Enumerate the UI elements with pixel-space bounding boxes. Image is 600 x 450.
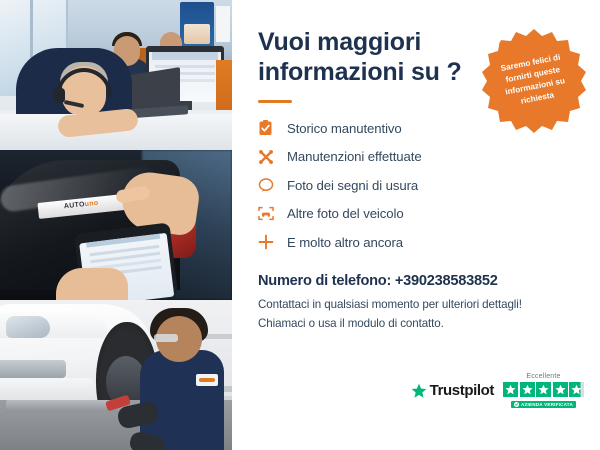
feature-item-manutenzioni[interactable]: Manutenzioni effettuate — [258, 144, 578, 170]
feature-item-altro[interactable]: E molto altro ancora — [258, 229, 578, 255]
hand-lower-decor — [56, 268, 128, 300]
star-4 — [553, 382, 568, 397]
badge-text: Saremo felici di fornirti queste informa… — [488, 50, 580, 113]
car-frame-icon — [258, 206, 280, 221]
trustpilot-star-icon — [411, 383, 427, 399]
clipboard-check-icon — [258, 120, 280, 136]
phone-number[interactable]: +390238583852 — [395, 273, 498, 289]
availability-badge: Saremo felici di fornirti queste informa… — [482, 29, 586, 133]
feature-label: Storico manutentivo — [287, 121, 402, 136]
trustpilot-rating: Eccellente AZIENDA VERIFICATA — [503, 373, 584, 408]
feature-label: E molto altro ancora — [287, 235, 403, 250]
feature-label: Foto dei segni di usura — [287, 178, 418, 193]
feature-label: Manutenzioni effettuate — [287, 149, 422, 164]
page-title: Vuoi maggiori informazioni su ? — [258, 28, 468, 87]
star-2 — [520, 382, 535, 397]
sticker-suffix: uno — [84, 200, 98, 208]
wall-paper-decor — [216, 6, 230, 42]
rating-label: Eccellente — [526, 373, 560, 380]
check-circle-icon — [514, 402, 519, 407]
feature-item-foto-usura[interactable]: Foto dei segni di usura — [258, 172, 578, 198]
plus-icon — [258, 234, 280, 250]
star-rating — [503, 382, 584, 397]
feature-label: Altre foto del veicolo — [287, 206, 404, 221]
verified-text: AZIENDA VERIFICATA — [521, 402, 573, 407]
headlight-decor — [6, 316, 50, 338]
star-5 — [569, 382, 584, 397]
mechanic-decor — [140, 350, 224, 450]
sticker-prefix: AUTO — [64, 201, 86, 210]
mechanic-wheel-photo — [0, 300, 232, 450]
promo-banner: AUTOuno — [0, 0, 600, 450]
photo-column: AUTOuno — [0, 0, 232, 450]
call-center-agents-photo — [0, 0, 232, 150]
trustpilot-widget[interactable]: Trustpilot Eccellente AZIENDA VERIFICA — [411, 373, 584, 408]
feature-item-altre-foto[interactable]: Altre foto del veicolo — [258, 201, 578, 227]
phone-label: Numero di telefono: — [258, 273, 391, 289]
headset-icon — [482, 27, 502, 43]
phone-line[interactable]: Numero di telefono: +390238583852 — [258, 273, 578, 289]
contact-line-2: Chiamaci o usa il modulo di contatto. — [258, 315, 578, 334]
trustpilot-logo: Trustpilot — [411, 382, 494, 399]
star-3 — [536, 382, 551, 397]
car-sticker-tablet-photo: AUTOuno — [0, 150, 232, 300]
star-1 — [503, 382, 518, 397]
crossed-tools-icon — [258, 149, 280, 165]
speech-bubble-icon — [258, 178, 280, 193]
title-divider — [258, 100, 292, 103]
headline-line-1: Vuoi maggiori — [258, 28, 421, 56]
phone-block: Numero di telefono: +390238583852 Contat… — [258, 273, 578, 334]
trustpilot-wordmark: Trustpilot — [430, 382, 494, 399]
contact-line-1: Contattaci in qualsiasi momento per ulte… — [258, 296, 578, 315]
wall-banner-decor — [180, 2, 214, 48]
headline-line-2: informazioni su ? — [258, 58, 468, 88]
verified-badge: AZIENDA VERIFICATA — [511, 401, 576, 408]
contact-text: Contattaci in qualsiasi momento per ulte… — [258, 296, 578, 334]
content-panel: Vuoi maggiori informazioni su ? Saremo f… — [232, 0, 600, 450]
feature-list: Storico manutentivo Manutenzioni effettu… — [258, 115, 578, 255]
